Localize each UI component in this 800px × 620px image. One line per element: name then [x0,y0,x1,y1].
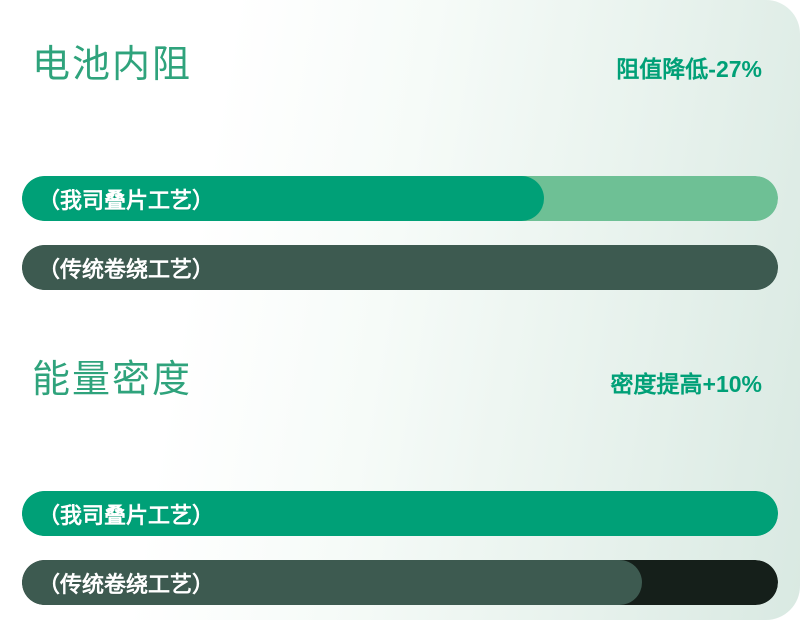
metric-group-energy-density: 能量密度 密度提高+10% （我司叠片工艺） （传统卷绕工艺） [0,345,800,423]
bar-row: （我司叠片工艺） [22,176,778,221]
metric-delta-badge: 密度提高+10% [611,373,762,396]
bar-row: （传统卷绕工艺） [22,560,778,605]
metric-header: 能量密度 密度提高+10% [0,345,800,423]
bar-row: （传统卷绕工艺） [22,245,778,290]
bar-label: （我司叠片工艺） [38,176,214,221]
bar-label: （传统卷绕工艺） [38,245,214,290]
bar-label: （我司叠片工艺） [38,491,214,536]
metric-delta-badge: 阻值降低-27% [616,58,762,81]
metric-title: 电池内阻 [32,46,192,84]
infographic-canvas: 电池内阻 阻值降低-27% （我司叠片工艺） （传统卷绕工艺） 能量密度 密度提… [0,0,800,620]
metric-title: 能量密度 [32,361,192,399]
metric-header: 电池内阻 阻值降低-27% [0,30,800,108]
bar-label: （传统卷绕工艺） [38,560,214,605]
bar-row: （我司叠片工艺） [22,491,778,536]
metric-group-battery-resistance: 电池内阻 阻值降低-27% （我司叠片工艺） （传统卷绕工艺） [0,30,800,108]
